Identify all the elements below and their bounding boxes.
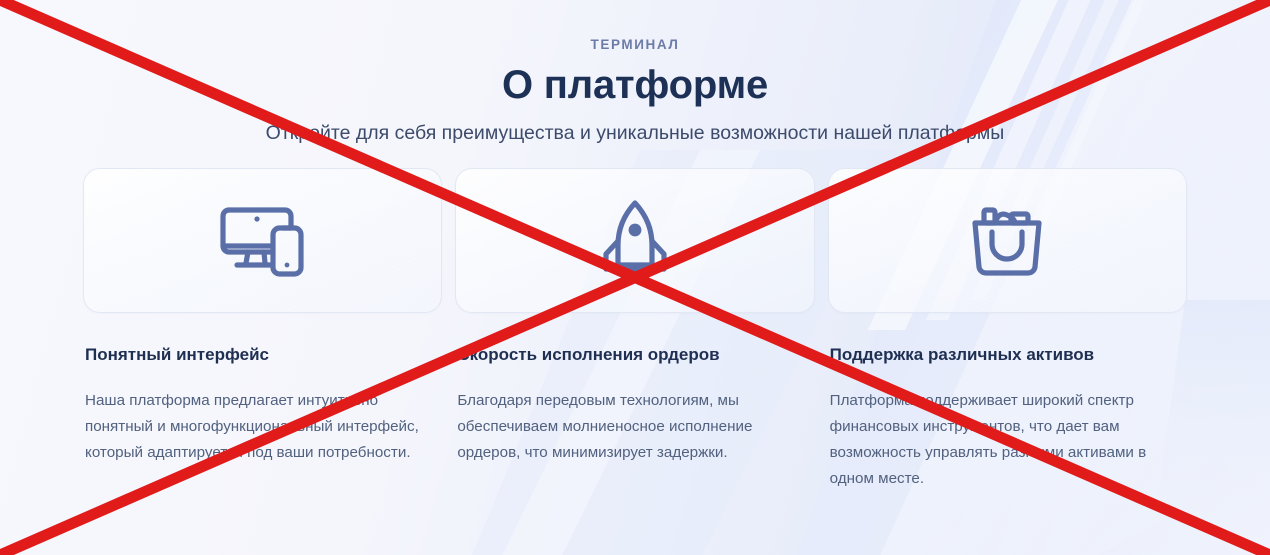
feature-card-1: Понятный интерфейс Наша платформа предла… — [83, 168, 442, 492]
feature-body-3: Платформа поддерживает широкий спектр фи… — [828, 388, 1168, 493]
feature-icon-card-2 — [455, 168, 814, 313]
feature-icon-card-3 — [828, 168, 1187, 313]
rocket-icon — [596, 197, 674, 285]
shopping-basket-icon — [964, 198, 1050, 284]
feature-card-2: Скорость исполнения ордеров Благодаря пе… — [455, 168, 814, 492]
feature-card-3: Поддержка различных активов Платформа по… — [828, 168, 1187, 492]
section-eyebrow: ТЕРМИНАЛ — [0, 37, 1270, 53]
feature-title-3: Поддержка различных активов — [828, 344, 1187, 365]
feature-cards-grid: Понятный интерфейс Наша платформа предла… — [83, 168, 1187, 492]
feature-body-1: Наша платформа предлагает интуитивно пон… — [83, 388, 423, 466]
section-header: ТЕРМИНАЛ О платформе Откройте для себя п… — [0, 0, 1270, 146]
section-subtitle: Откройте для себя преимущества и уникаль… — [0, 121, 1270, 146]
feature-title-2: Скорость исполнения ордеров — [455, 344, 814, 365]
monitor-phone-icon — [217, 199, 309, 283]
feature-icon-card-1 — [83, 168, 442, 313]
feature-title-1: Понятный интерфейс — [83, 344, 442, 365]
about-platform-section: ТЕРМИНАЛ О платформе Откройте для себя п… — [0, 0, 1270, 555]
page-title: О платформе — [0, 63, 1270, 108]
feature-body-2: Благодаря передовым технологиям, мы обес… — [455, 388, 795, 466]
